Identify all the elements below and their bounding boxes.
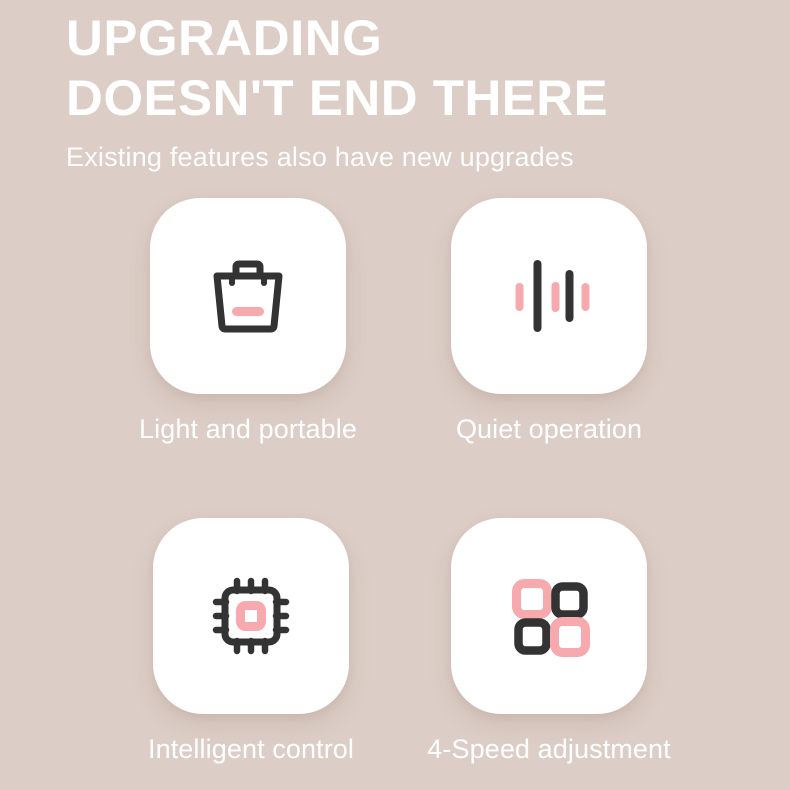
- grid-squares-icon: [501, 568, 597, 664]
- feature-row-1: Light and portable Quiet operation: [0, 198, 790, 518]
- cpu-chip-icon: [203, 568, 299, 664]
- page-title-line-2: DOESN'T END THERE: [66, 68, 780, 128]
- feature-item-light-and-portable[interactable]: Light and portable: [118, 198, 378, 446]
- feature-caption: 4-Speed adjustment: [427, 732, 670, 766]
- page-subtitle: Existing features also have new upgrades: [66, 140, 766, 174]
- feature-caption: Quiet operation: [456, 412, 642, 446]
- sound-waveform-icon: [501, 248, 597, 344]
- icon-card-intelligent-control[interactable]: [153, 518, 349, 714]
- feature-caption: Intelligent control: [148, 732, 354, 766]
- icon-card-light-and-portable[interactable]: [150, 198, 346, 394]
- icon-card-quiet-operation[interactable]: [451, 198, 647, 394]
- feature-item-quiet-operation[interactable]: Quiet operation: [419, 198, 679, 446]
- page-title-line-1: UPGRADING: [66, 8, 780, 68]
- feature-caption: Light and portable: [139, 412, 357, 446]
- shopping-bag-icon: [200, 248, 296, 344]
- feature-item-intelligent-control[interactable]: Intelligent control: [121, 518, 381, 766]
- icon-card-4-speed-adjustment[interactable]: [451, 518, 647, 714]
- feature-grid: Light and portable Quiet operation: [0, 198, 790, 790]
- feature-item-4-speed-adjustment[interactable]: 4-Speed adjustment: [419, 518, 679, 766]
- feature-highlight-panel: UPGRADING DOESN'T END THERE Existing fea…: [0, 0, 790, 790]
- heading-block: UPGRADING DOESN'T END THERE Existing fea…: [66, 8, 766, 174]
- feature-row-2: Intelligent control 4-Spee: [0, 518, 790, 790]
